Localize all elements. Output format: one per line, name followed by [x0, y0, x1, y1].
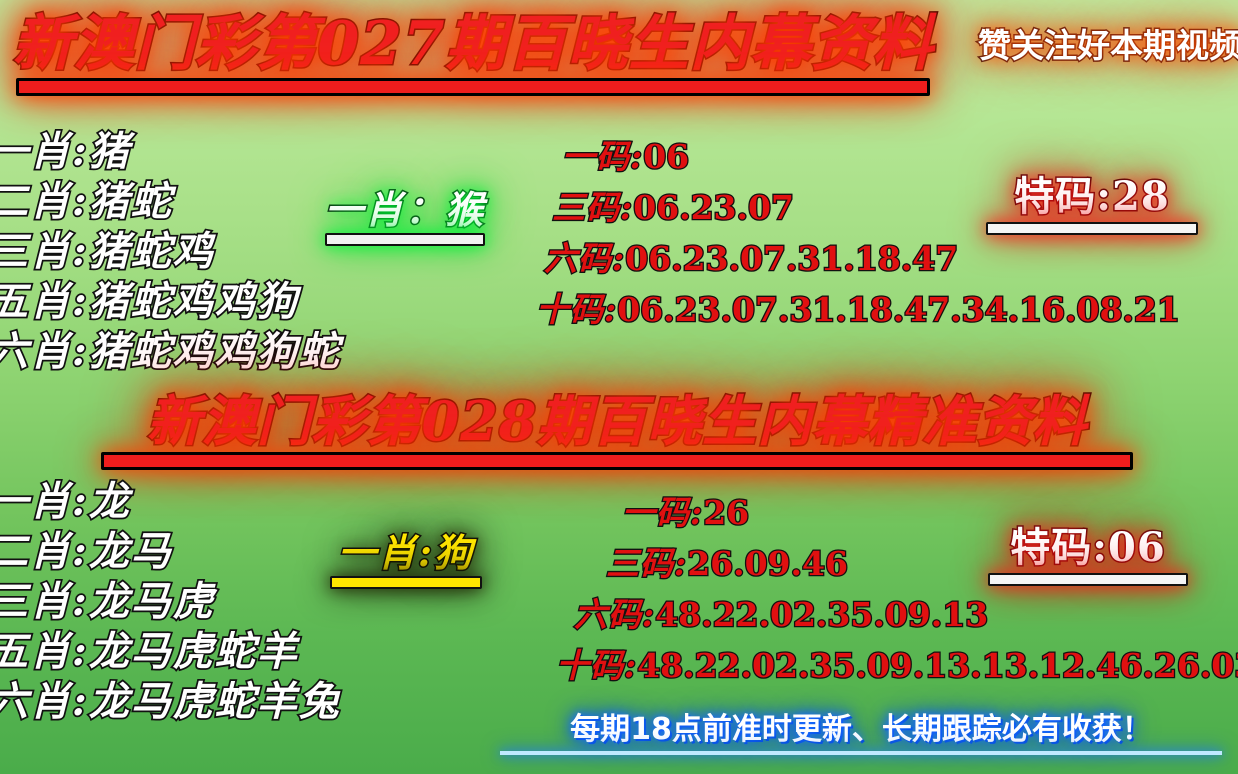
code-row: 十码:48.22.02.35.09.13.13.12.46.26.03 — [556, 649, 1238, 682]
code-row-label: 三码: — [552, 188, 633, 227]
section-027-title-band: 新澳门彩第027期百晓生内幕资料 — [8, 14, 938, 96]
section-028-single-zodiac-label: 一肖:狗 — [338, 533, 474, 573]
code-row-value: 48.22.02.35.09.13 — [655, 595, 988, 634]
section-027-single-zodiac-badge: 一肖：猴 — [325, 190, 485, 246]
section-027-code-list: 一码:06 三码:06.23.07 六码:06.23.07.31.18.47 十… — [552, 140, 1180, 344]
code-row-label: 一码: — [562, 137, 643, 176]
section-028-title-band: 新澳门彩第028期百晓生内幕精准资料 — [96, 394, 1138, 470]
section-027-special-code-badge: 特码:28 — [986, 176, 1198, 235]
code-row-value: 48.22.02.35.09.13.13.12.46.26.03 — [637, 646, 1238, 685]
zodiac-row: 二肖:猪蛇 — [0, 182, 341, 222]
zodiac-row: 一肖:龙 — [0, 482, 341, 522]
section-028-title: 新澳门彩第028期百晓生内幕精准资料 — [147, 394, 1088, 448]
section-028-special-code-badge: 特码:06 — [988, 527, 1188, 586]
zodiac-row: 五肖:龙马虎蛇羊 — [0, 632, 341, 672]
code-row-label: 一码: — [622, 493, 703, 532]
section-027-single-zodiac-label: 一肖：猴 — [325, 190, 485, 230]
zodiac-row: 六肖:猪蛇鸡鸡狗蛇 — [0, 332, 341, 372]
section-027-title: 新澳门彩第027期百晓生内幕资料 — [12, 14, 933, 74]
section-028-single-zodiac-badge: 一肖:狗 — [330, 533, 482, 589]
section-027-single-zodiac-underline — [325, 233, 485, 246]
code-row-label: 十码: — [536, 290, 617, 329]
code-row-label: 六码: — [544, 239, 625, 278]
code-row-value: 26 — [703, 493, 749, 532]
zodiac-row: 二肖:龙马 — [0, 532, 341, 572]
section-028-single-zodiac-underline — [330, 576, 482, 589]
section-027-special-code-label: 特码:28 — [1014, 176, 1169, 218]
zodiac-row: 三肖:龙马虎 — [0, 582, 341, 622]
code-row-value: 06 — [643, 137, 689, 176]
code-row-label: 三码: — [606, 544, 687, 583]
code-row-label: 六码: — [574, 595, 655, 634]
code-row: 一码:06 — [562, 140, 1180, 173]
poster-canvas: 新澳门彩第027期百晓生内幕资料 赞关注好本期视频 一肖:猪 二肖:猪蛇 三肖:… — [0, 0, 1238, 774]
code-row-value: 06.23.07.31.18.47 — [625, 239, 958, 278]
code-row-value: 06.23.07.31.18.47.34.16.08.21 — [617, 290, 1180, 329]
code-row-label: 十码: — [556, 646, 637, 685]
code-row-value: 06.23.07 — [633, 188, 794, 227]
section-027-special-code-underline — [986, 222, 1198, 235]
code-row: 十码:06.23.07.31.18.47.34.16.08.21 — [536, 293, 1180, 326]
code-row: 六码:48.22.02.35.09.13 — [574, 598, 1238, 631]
code-row-value: 26.09.46 — [687, 544, 848, 583]
footer-banner-underline — [500, 751, 1222, 755]
section-028-title-underline — [101, 452, 1133, 470]
zodiac-row: 一肖:猪 — [0, 132, 341, 172]
code-row: 六码:06.23.07.31.18.47 — [544, 242, 1180, 275]
section-028-special-code-underline — [988, 573, 1188, 586]
section-028-zodiac-list: 一肖:龙 二肖:龙马 三肖:龙马虎 五肖:龙马虎蛇羊 六肖:龙马虎蛇羊兔 — [0, 482, 341, 732]
section-027-zodiac-list: 一肖:猪 二肖:猪蛇 三肖:猪蛇鸡 五肖:猪蛇鸡鸡狗 六肖:猪蛇鸡鸡狗蛇 — [0, 132, 341, 382]
zodiac-row: 六肖:龙马虎蛇羊兔 — [0, 682, 341, 722]
section-027-title-underline — [16, 78, 930, 96]
section-028-special-code-label: 特码:06 — [1010, 527, 1165, 569]
zodiac-row: 三肖:猪蛇鸡 — [0, 232, 341, 272]
zodiac-row: 五肖:猪蛇鸡鸡狗 — [0, 282, 341, 322]
promo-top-right-text: 赞关注好本期视频 — [978, 28, 1238, 64]
footer-banner: 每期18点前准时更新、长期跟踪必有收获！ — [500, 714, 1222, 755]
footer-banner-text: 每期18点前准时更新、长期跟踪必有收获！ — [570, 714, 1152, 746]
